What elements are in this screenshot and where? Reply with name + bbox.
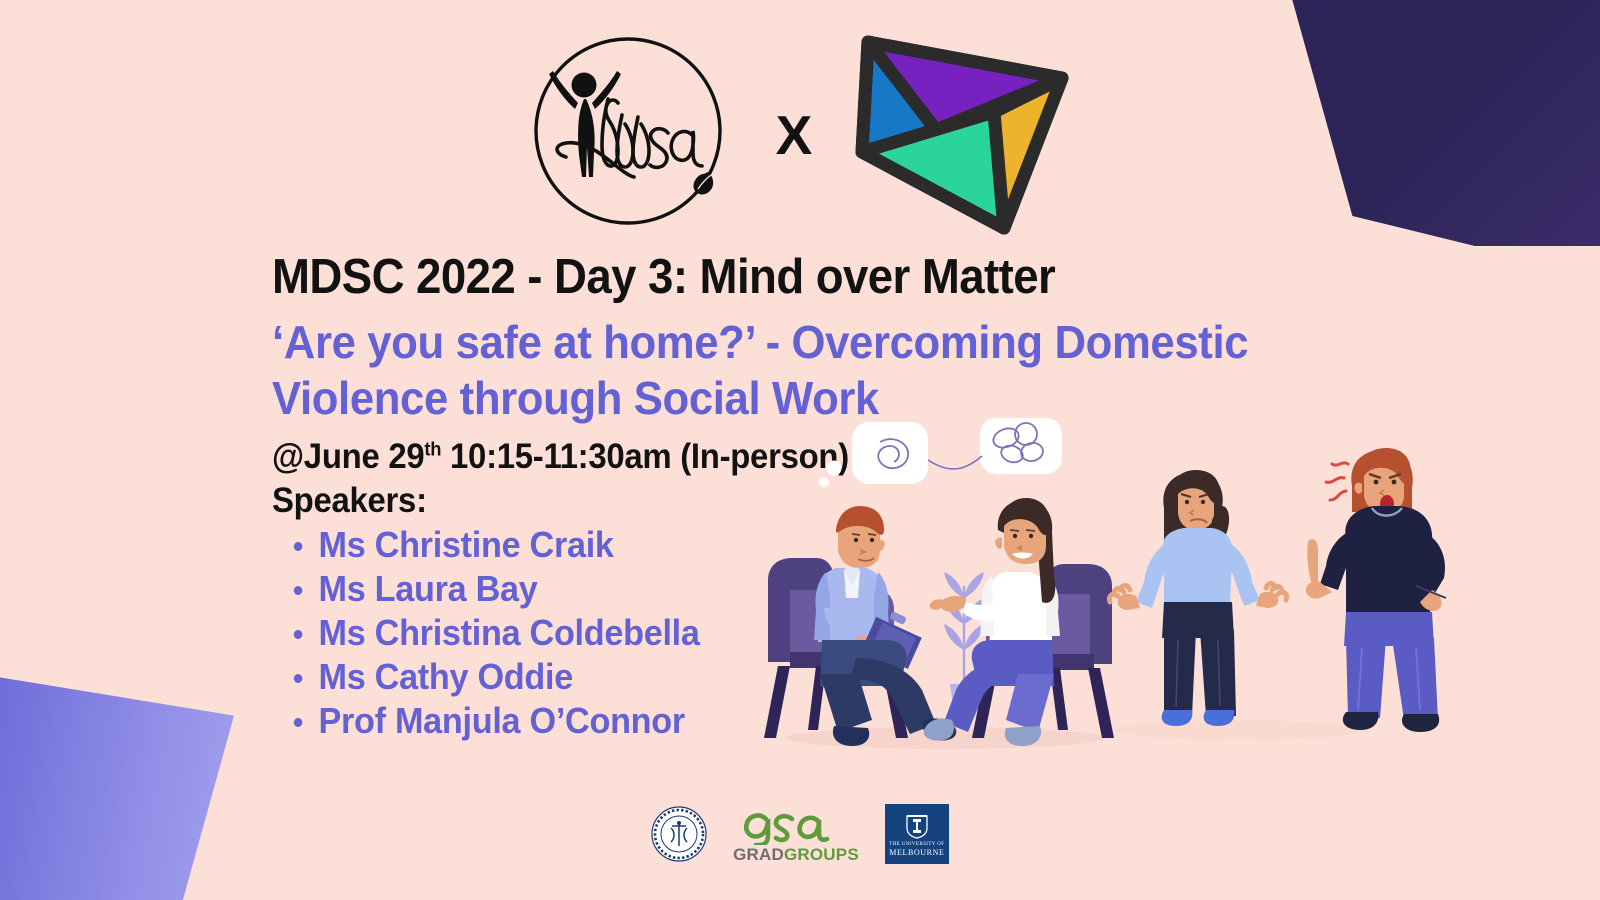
datetime-ordinal: th — [424, 439, 441, 461]
gsa-grad-groups-logo: GRADGROUPS — [733, 805, 859, 863]
gsa-word-groups: GROUPS — [784, 845, 859, 864]
university-of-melbourne-logo: THE UNIVERSITY OF MELBOURNE — [885, 804, 949, 864]
collaboration-x-symbol: X — [776, 108, 813, 163]
geometric-logo — [846, 20, 1078, 242]
gsa-word-grad: GRAD — [733, 845, 784, 864]
event-poster: X MDSC 2022 - Day 3: Mind over Matter ‘A… — [0, 0, 1600, 900]
illustration-group — [760, 390, 1480, 760]
counselling-session-illustration — [764, 418, 1114, 746]
datetime-prefix: @June 29 — [272, 437, 424, 476]
gsa-wordmark: GRADGROUPS — [733, 846, 859, 863]
gsa-script-mark — [740, 805, 852, 845]
unimelb-crest-icon — [902, 810, 932, 840]
logo-row: X — [0, 18, 1600, 248]
arguing-couple-illustration — [1109, 448, 1446, 732]
unimelb-line-2: MELBOURNE — [889, 848, 944, 858]
footer-logos: GRADGROUPS THE UNIVERSITY OF MELBOURNE — [0, 804, 1600, 864]
melbourne-medical-students-society-seal — [651, 806, 707, 862]
hhsa-logo — [522, 27, 742, 239]
event-headline: MDSC 2022 - Day 3: Mind over Matter — [272, 252, 1258, 304]
